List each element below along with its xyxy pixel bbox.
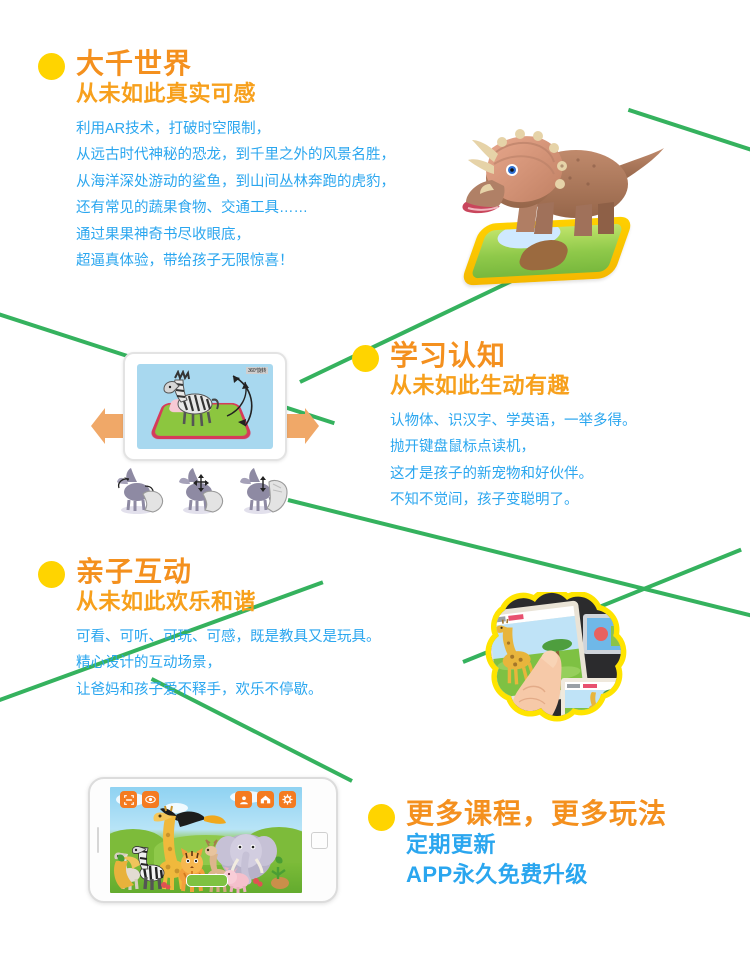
product-feature-page: 大千世界 从未如此真实可感 利用AR技术，打破时空限制， 从远古时代神秘的恐龙，… [0,0,750,960]
phone-device [88,777,338,903]
body-line: 精心设计的互动场景， [76,650,381,676]
yellow-dot-icon [38,53,65,80]
section-heading: 更多课程，更多玩法 定期更新 APP永久免费升级 [368,798,667,890]
rotate-label: 360°旋转 [246,367,268,374]
section-learning-cognition: 学习认知 从未如此生动有趣 认物体、识汉字、学英语，一举多得。 抛开键盘鼠标点读… [352,340,637,514]
section-subtitle: 从未如此生动有趣 [390,372,570,401]
scallop-frame-icon [465,592,650,737]
body-line: 利用AR技术，打破时空限制， [76,116,395,142]
triceratops-icon [458,108,668,258]
arrow-left-icon [91,408,125,444]
section-heading: 学习认知 从未如此生动有趣 [352,340,637,401]
triceratops-ar-illustration [452,108,672,293]
body-line: 从远古时代神秘的恐龙，到千里之外的风景名胜， [76,142,395,168]
ground-props [110,853,302,893]
body-line: 可看、可听、可玩、可感，既是教具又是玩具。 [76,624,381,650]
section-more-courses: 更多课程，更多玩法 定期更新 APP永久免费升级 [368,798,667,890]
section-title: 更多课程，更多玩法 [406,798,667,830]
pan-gesture-icon [177,464,233,516]
body-line: 抛开键盘鼠标点读机， [390,434,637,460]
tablet-device: 360°旋转 [123,352,287,461]
body-line: 不知不觉间，孩子变聪明了。 [390,487,637,513]
gesture-hint-row [115,464,295,516]
body-line: 通过果果神奇书尽收眼底， [76,222,395,248]
body-line: 从海洋深处游动的鲨鱼，到山间丛林奔跑的虎豹， [76,169,395,195]
section-title: 学习认知 [390,340,570,372]
yellow-dot-icon [38,561,65,588]
section-body: 认物体、识汉字、学英语，一举多得。 抛开键盘鼠标点读机， 这才是孩子的新宠物和好… [390,408,637,514]
section-subtitle: 从未如此欢乐和谐 [76,588,256,617]
phone-screen [110,787,302,893]
section-parent-child-interaction: 亲子互动 从未如此欢乐和谐 可看、可听、可玩、可感，既是教具又是玩具。 精心设计… [38,556,381,703]
app-label-chip[interactable] [186,874,228,887]
tablet-zebra-ar-illustration: 360°旋转 [115,352,295,517]
section-subtitle: 从未如此真实可感 [76,80,256,109]
section-body: 利用AR技术，打破时空限制， 从远古时代神秘的恐龙，到千里之外的风景名胜， 从海… [76,116,395,274]
section-heading: 大千世界 从未如此真实可感 [38,48,395,109]
yellow-dot-icon [352,345,379,372]
pinch-gesture-icon [239,464,295,516]
body-line: 超逼真体验，带给孩子无限惊喜！ [76,248,395,274]
phone-animal-app-illustration [88,777,334,899]
yellow-dot-icon [368,804,395,831]
body-line: 还有常见的蔬果食物、交通工具…… [76,195,395,221]
section-blue-line: APP永久免费升级 [406,860,667,890]
arrow-right-icon [285,408,319,444]
phone-home-button[interactable] [311,832,328,849]
tablet-screen: 360°旋转 [137,364,273,449]
section-body: 可看、可听、可玩、可感，既是教具又是玩具。 精心设计的互动场景， 让爸妈和孩子爱… [76,624,381,703]
giraffe-photo-illustration [465,592,650,737]
body-line: 认物体、识汉字、学英语，一举多得。 [390,408,637,434]
rotate-gesture-icon [115,464,171,516]
section-heading: 亲子互动 从未如此欢乐和谐 [38,556,381,617]
section-blue-line: 定期更新 [406,830,667,860]
body-line: 这才是孩子的新宠物和好伙伴。 [390,461,637,487]
phone-speaker [97,827,99,853]
rotate-arrow-icon [223,370,267,432]
section-big-world: 大千世界 从未如此真实可感 利用AR技术，打破时空限制， 从远古时代神秘的恐龙，… [38,48,395,274]
body-line: 让爸妈和孩子爱不释手，欢乐不停歇。 [76,677,381,703]
section-title: 大千世界 [76,48,256,80]
zebra-ar-model-icon [161,370,221,430]
section-title: 亲子互动 [76,556,256,588]
